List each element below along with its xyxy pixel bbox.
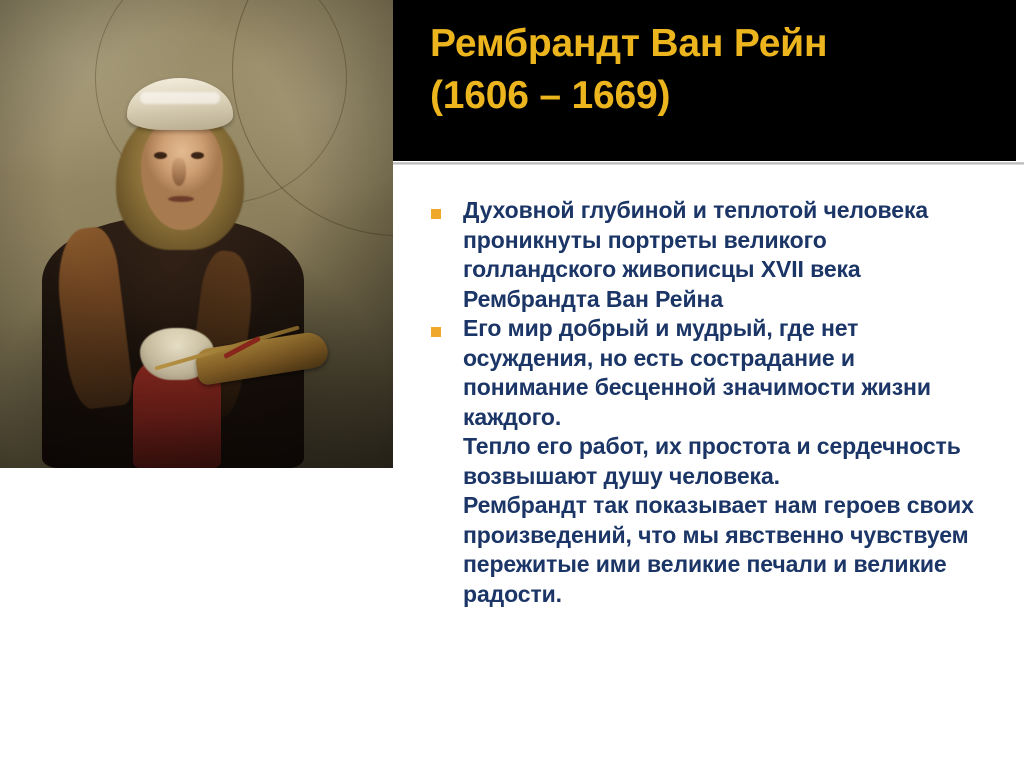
- paragraph-text: Рембрандт так показывает нам героев свои…: [463, 491, 985, 609]
- bullet-text: Духовной глубиной и теплотой человека пр…: [463, 196, 985, 314]
- presentation-slide: Рембрандт Ван Рейн (1606 – 1669) Духовно…: [0, 0, 1024, 767]
- slide-body: Духовной глубиной и теплотой человека пр…: [425, 196, 985, 609]
- figure-nose: [172, 158, 186, 186]
- slide-title: Рембрандт Ван Рейн (1606 – 1669): [430, 18, 990, 122]
- bullet-text: Его мир добрый и мудрый, где нет осужден…: [463, 314, 985, 432]
- white-cap-fold: [140, 92, 220, 104]
- bullet-item: Его мир добрый и мудрый, где нет осужден…: [425, 314, 985, 432]
- figure-eye-left: [154, 152, 167, 159]
- paragraph-item: Рембрандт так показывает нам героев свои…: [425, 491, 985, 609]
- paragraph-item: Тепло его работ, их простота и сердечнос…: [425, 432, 985, 491]
- title-banner: Рембрандт Ван Рейн (1606 – 1669): [393, 0, 1016, 161]
- paragraph-text: Тепло его работ, их простота и сердечнос…: [463, 432, 985, 491]
- figure-eye-right: [191, 152, 204, 159]
- figure-mouth: [168, 196, 194, 202]
- square-bullet-icon: [431, 327, 441, 337]
- banner-divider: [393, 162, 1024, 165]
- bullet-item: Духовной глубиной и теплотой человека пр…: [425, 196, 985, 314]
- square-bullet-icon: [431, 209, 441, 219]
- rembrandt-self-portrait-image: [0, 0, 393, 468]
